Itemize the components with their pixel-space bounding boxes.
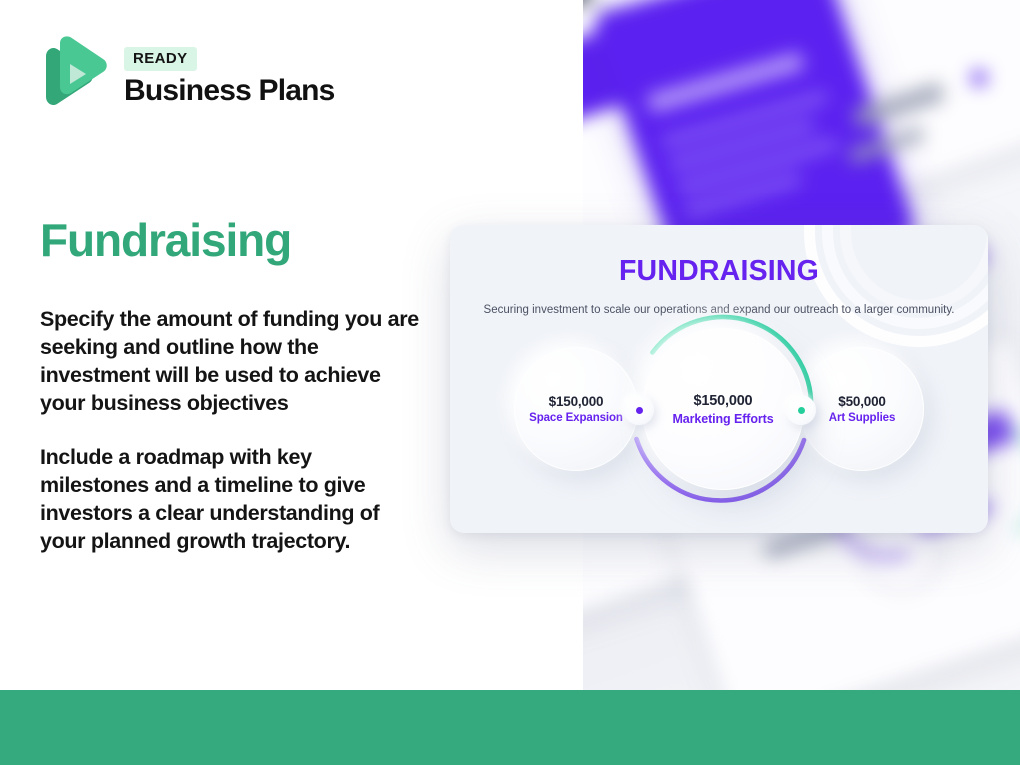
play-triangles-icon <box>40 36 110 116</box>
funding-category: Marketing Efforts <box>672 412 773 426</box>
brand-lockup: READY Business Plans <box>40 36 335 116</box>
connector-node-left <box>624 395 654 425</box>
connector-node-right <box>786 395 816 425</box>
funding-amount: $50,000 <box>838 394 885 409</box>
funding-node-space-expansion[interactable]: $150,000 Space Expansion <box>514 347 638 471</box>
body-paragraph-1: Specify the amount of funding you are se… <box>40 306 425 418</box>
funding-node-marketing-efforts[interactable]: $150,000 Marketing Efforts <box>642 328 804 490</box>
ready-badge: READY <box>124 47 197 71</box>
brand-name: Business Plans <box>124 75 335 107</box>
card-subtitle: Securing investment to scale our operati… <box>450 302 988 318</box>
card-title: FUNDRAISING <box>450 255 988 288</box>
funding-amount: $150,000 <box>694 393 753 409</box>
slide-root: READY Business Plans Fundraising Specify… <box>0 0 1020 765</box>
funding-node-art-supplies[interactable]: $50,000 Art Supplies <box>800 347 924 471</box>
page-title: Fundraising <box>40 213 291 267</box>
funding-allocation-diagram: $150,000 Space Expansion $150,000 Market… <box>450 343 988 533</box>
background-dot <box>971 70 987 86</box>
funding-category: Art Supplies <box>829 412 896 424</box>
connector-dot-green <box>798 407 805 414</box>
funding-amount: $150,000 <box>549 394 604 409</box>
brand-text: READY Business Plans <box>124 45 335 107</box>
connector-dot-purple <box>636 407 643 414</box>
body-paragraph-2: Include a roadmap with key milestones an… <box>40 444 425 556</box>
body-copy: Specify the amount of funding you are se… <box>40 306 425 556</box>
fundraising-card: FUNDRAISING Securing investment to scale… <box>450 225 988 533</box>
funding-category: Space Expansion <box>529 412 623 424</box>
footer-bar <box>0 690 1020 765</box>
